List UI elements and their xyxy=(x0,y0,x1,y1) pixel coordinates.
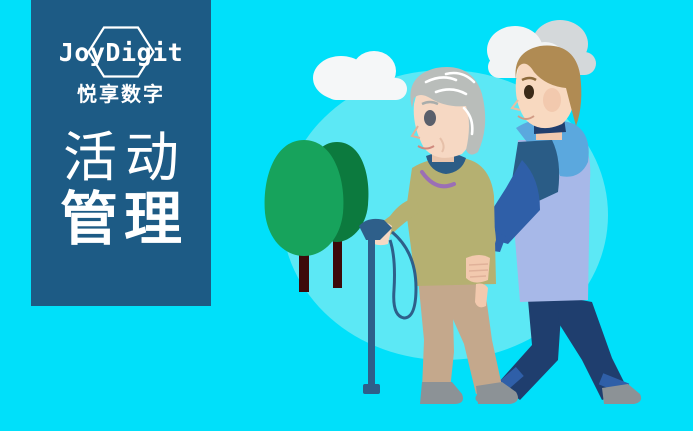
illustration xyxy=(240,0,693,431)
young-ear xyxy=(543,88,561,112)
cane-tip xyxy=(363,384,380,394)
page-title: 活动 管理 xyxy=(31,131,211,249)
poster-canvas: JoyDigit 悦享数字 活动 管理 xyxy=(0,0,693,431)
brand-logo: JoyDigit 悦享数字 xyxy=(31,26,211,105)
young-eye xyxy=(524,85,534,99)
logo-mark: JoyDigit xyxy=(57,26,185,78)
elderly-hanging-hand xyxy=(475,284,488,308)
logo-subtitle: 悦享数字 xyxy=(77,85,165,105)
title-line-2: 管理 xyxy=(31,190,211,249)
elderly-rear-hand xyxy=(466,255,490,283)
title-line-1: 活动 xyxy=(31,131,211,186)
logo-wordmark: JoyDigit xyxy=(57,26,185,78)
title-panel: JoyDigit 悦享数字 活动 管理 xyxy=(31,0,211,306)
cane-shaft xyxy=(368,238,375,390)
elderly-eye xyxy=(424,110,436,126)
